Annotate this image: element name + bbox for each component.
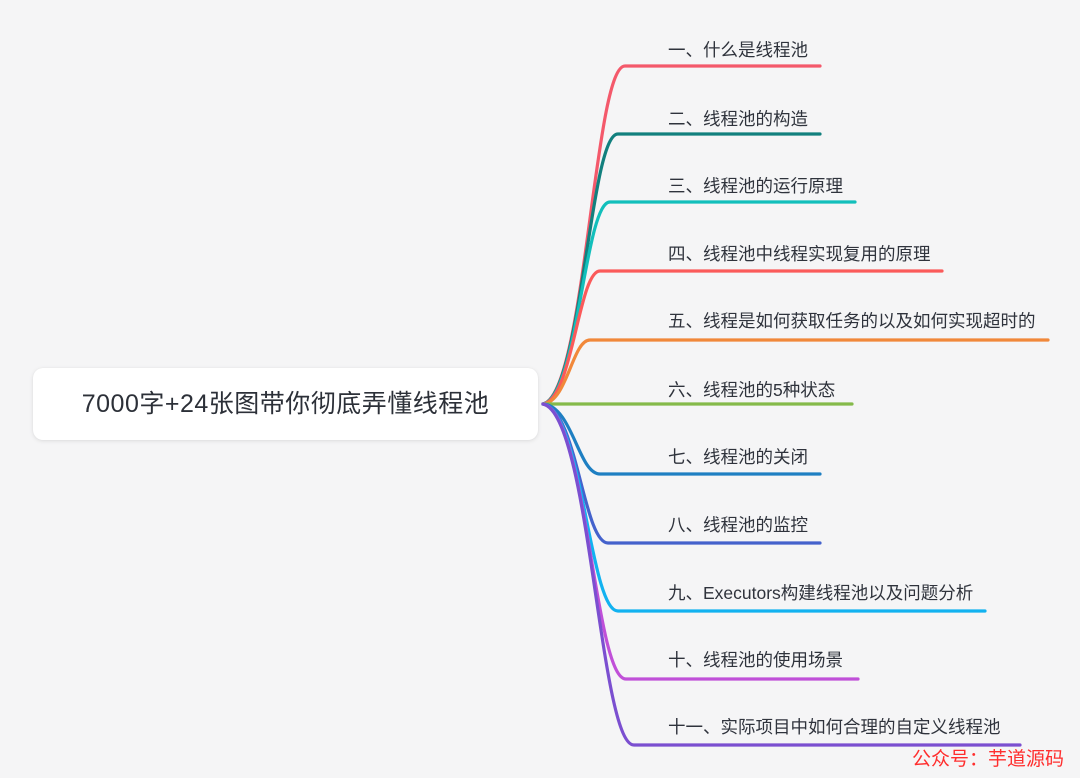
watermark-text: 公众号：芋道源码 bbox=[912, 749, 1064, 772]
branch-connector-3 bbox=[543, 202, 855, 404]
central-topic-label: 7000字+24张图带你彻底弄懂线程池 bbox=[82, 392, 490, 417]
branch-label-6[interactable]: 六、线程池的5种状态 bbox=[668, 382, 835, 400]
branch-label-4[interactable]: 四、线程池中线程实现复用的原理 bbox=[668, 246, 931, 264]
branch-label-5[interactable]: 五、线程是如何获取任务的以及如何实现超时的 bbox=[668, 313, 1036, 331]
branch-label-9[interactable]: 九、Executors构建线程池以及问题分析 bbox=[668, 585, 973, 603]
branch-connector-9 bbox=[543, 404, 985, 611]
branch-label-2[interactable]: 二、线程池的构造 bbox=[668, 111, 808, 129]
branch-connector-10 bbox=[543, 404, 858, 679]
branch-label-10[interactable]: 十、线程池的使用场景 bbox=[668, 652, 843, 670]
branch-label-7[interactable]: 七、线程池的关闭 bbox=[668, 449, 808, 467]
branch-label-1[interactable]: 一、什么是线程池 bbox=[668, 42, 808, 60]
mindmap-canvas: 7000字+24张图带你彻底弄懂线程池 一、什么是线程池二、线程池的构造三、线程… bbox=[0, 0, 1080, 778]
branch-connector-2 bbox=[543, 134, 820, 404]
branch-label-8[interactable]: 八、线程池的监控 bbox=[668, 517, 808, 535]
branch-label-11[interactable]: 十一、实际项目中如何合理的自定义线程池 bbox=[668, 719, 1001, 737]
central-topic-node[interactable]: 7000字+24张图带你彻底弄懂线程池 bbox=[33, 368, 538, 440]
branch-label-3[interactable]: 三、线程池的运行原理 bbox=[668, 178, 843, 196]
